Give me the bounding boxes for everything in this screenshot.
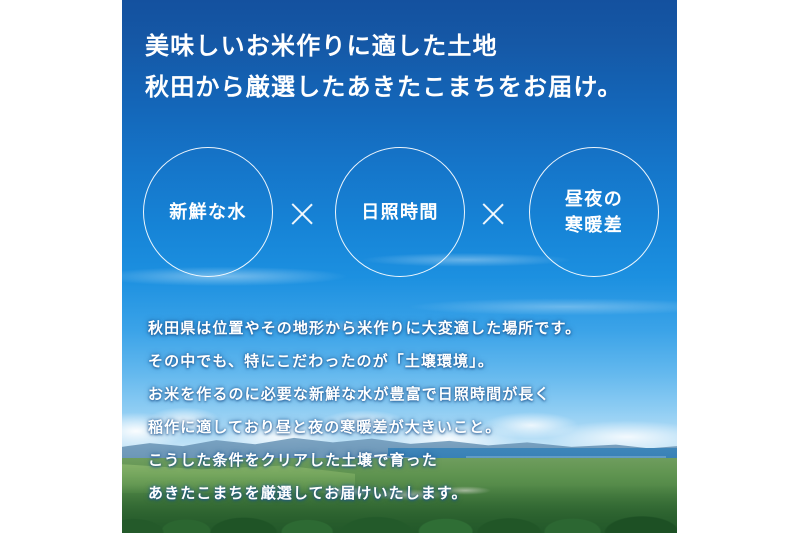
body-line-4: 稲作に適しており昼と夜の寒暖差が大きいこと。 bbox=[148, 411, 668, 444]
multiply-icon-2 bbox=[479, 200, 507, 228]
factor-circle-sunshine-hours: 日照時間 bbox=[335, 147, 465, 277]
headline-line-1: 美味しいお米作りに適した土地 bbox=[145, 26, 665, 67]
factor-circle-fresh-water: 新鮮な水 bbox=[143, 147, 273, 277]
headline: 美味しいお米作りに適した土地 秋田から厳選したあきたこまちをお届け。 bbox=[145, 26, 665, 108]
factor-circle-temperature-range: 昼夜の 寒暖差 bbox=[529, 147, 659, 277]
rice-promo-banner: 美味しいお米作りに適した土地 秋田から厳選したあきたこまちをお届け。 新鮮な水 … bbox=[122, 0, 677, 533]
factor-label-fresh-water: 新鮮な水 bbox=[169, 199, 247, 225]
page-canvas: 美味しいお米作りに適した土地 秋田から厳選したあきたこまちをお届け。 新鮮な水 … bbox=[0, 0, 800, 533]
body-line-1: 秋田県は位置やその地形から米作りに大変適した場所です。 bbox=[148, 312, 668, 345]
body-line-2: その中でも、特にこだわったのが「土壌環境」。 bbox=[148, 345, 668, 378]
multiply-icon-1 bbox=[288, 200, 316, 228]
factor-label-sunshine-hours: 日照時間 bbox=[361, 199, 439, 225]
factor-circle-row: 新鮮な水 日照時間 昼夜の 寒暖差 bbox=[122, 147, 677, 281]
body-line-5: こうした条件をクリアした土壌で育った bbox=[148, 444, 668, 477]
body-copy: 秋田県は位置やその地形から米作りに大変適した場所です。 その中でも、特にこだわっ… bbox=[148, 312, 668, 510]
factor-label-temperature-range: 昼夜の 寒暖差 bbox=[565, 186, 623, 238]
body-line-6: あきたこまちを厳選してお届けいたします。 bbox=[148, 477, 668, 510]
headline-line-2: 秋田から厳選したあきたこまちをお届け。 bbox=[145, 67, 665, 108]
body-line-3: お米を作るのに必要な新鮮な水が豊富で日照時間が長く bbox=[148, 378, 668, 411]
